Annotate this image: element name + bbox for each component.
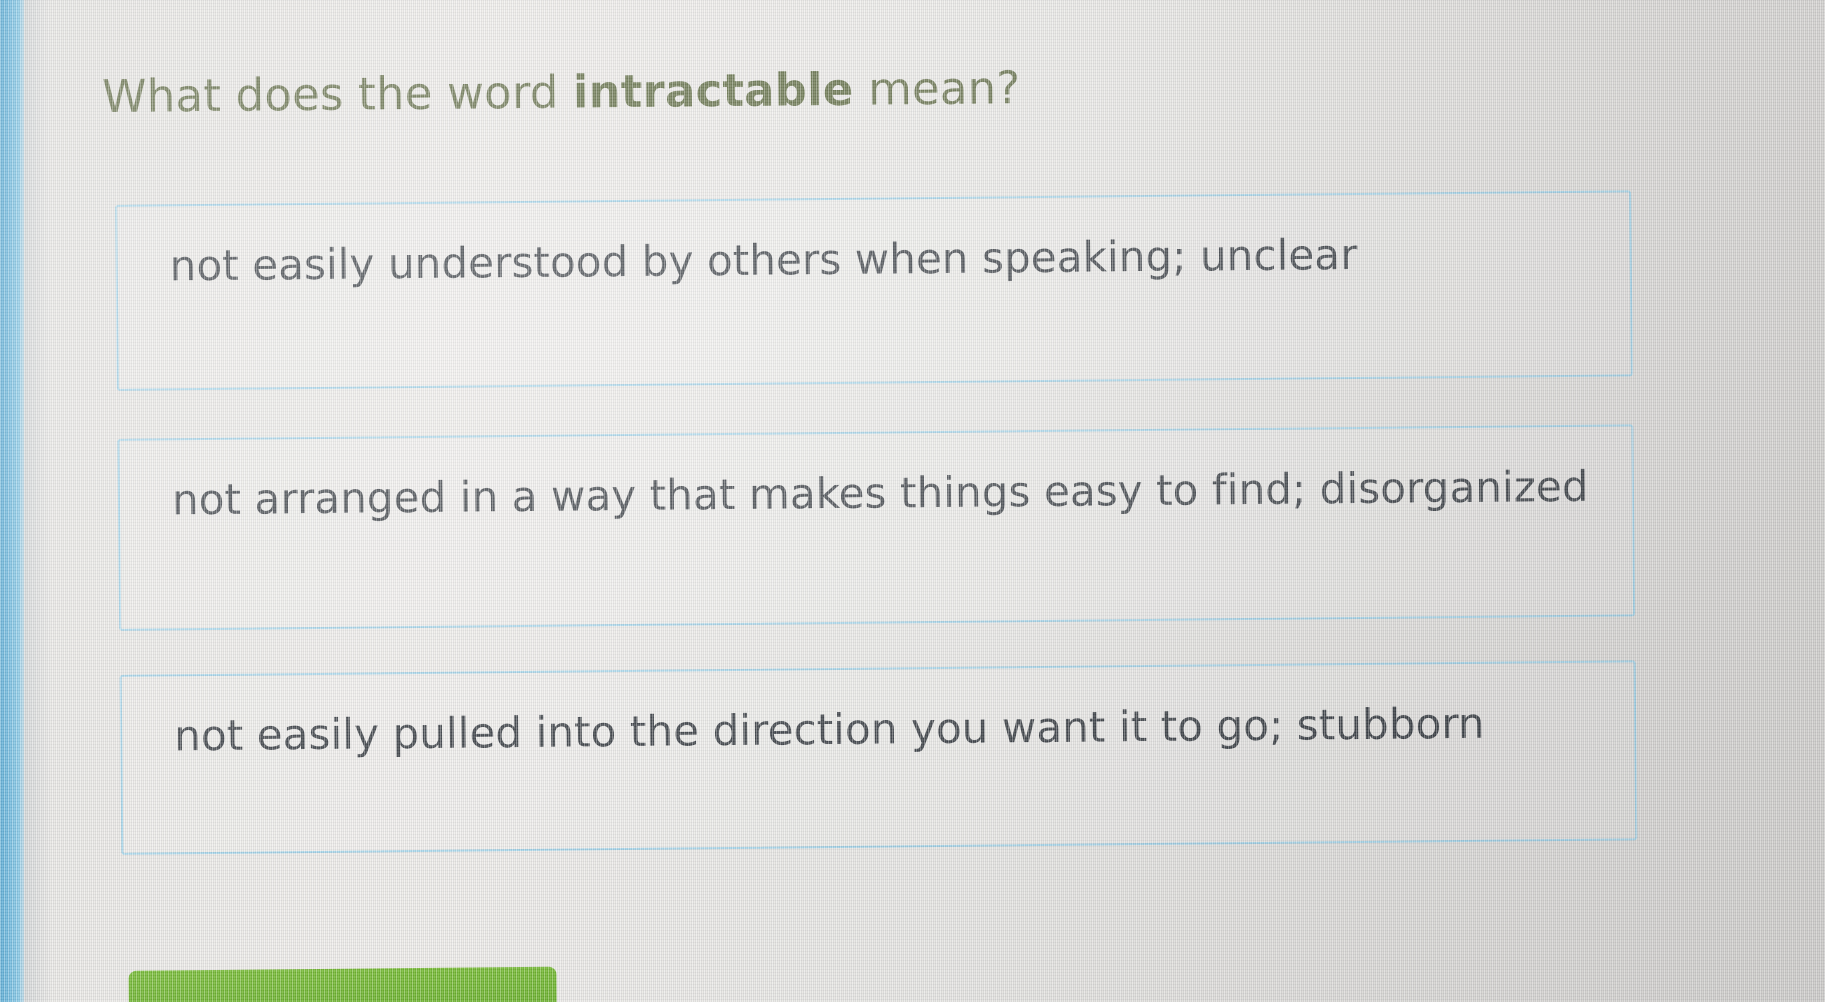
question-prompt: What does the word intractable mean? bbox=[102, 58, 1402, 124]
question-keyword: intractable bbox=[573, 63, 854, 119]
screen-photo-canvas: What does the word intractable mean? not… bbox=[0, 0, 1825, 1002]
submit-button[interactable] bbox=[128, 967, 557, 1002]
question-suffix: mean? bbox=[853, 61, 1021, 116]
answer-option-3[interactable]: not easily pulled into the direction you… bbox=[120, 660, 1638, 855]
answer-option-3-label: not easily pulled into the direction you… bbox=[174, 693, 1609, 766]
question-prefix: What does the word bbox=[102, 65, 573, 123]
answer-option-2[interactable]: not arranged in a way that makes things … bbox=[117, 424, 1635, 631]
answer-option-1-label: not easily understood by others when spe… bbox=[169, 223, 1604, 296]
answer-option-1[interactable]: not easily understood by others when spe… bbox=[115, 190, 1633, 391]
answer-option-2-label: not arranged in a way that makes things … bbox=[172, 457, 1607, 530]
quiz-content-area: What does the word intractable mean? not… bbox=[0, 0, 1825, 1002]
